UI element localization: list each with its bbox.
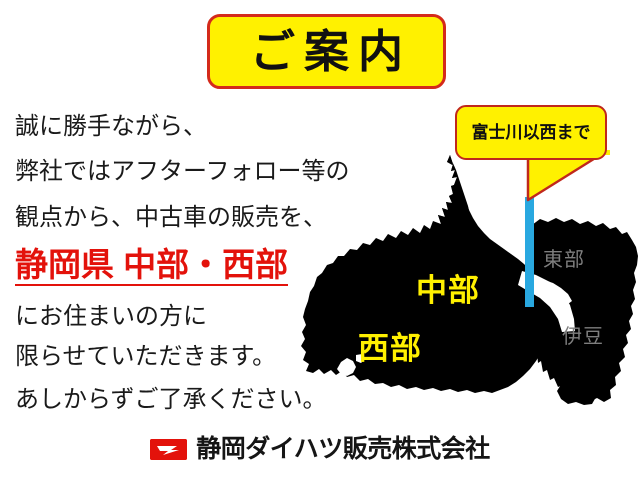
fuji-river-boundary-line bbox=[525, 197, 534, 307]
service-area-highlight: 静岡県 中部・西部 bbox=[15, 248, 288, 286]
map-label-seibu: 西部 bbox=[358, 333, 422, 364]
map-label-chubu: 中部 bbox=[416, 275, 480, 306]
title-banner: ご案内 bbox=[207, 14, 446, 89]
notice-poster: ご案内 誠に勝手ながら、 弊社ではアフターフォロー等の 観点から、中古車の販売を… bbox=[0, 0, 640, 480]
notice-line-6: あしからずご了承ください。 bbox=[15, 388, 327, 412]
notice-line-4: にお住まいの方に bbox=[15, 305, 207, 329]
daihatsu-logo-icon bbox=[150, 439, 187, 460]
notice-line-5: 限らせていただきます。 bbox=[15, 345, 276, 369]
notice-line-3: 観点から、中古車の販売を、 bbox=[15, 206, 327, 230]
map-label-tobu: 東部 bbox=[543, 250, 585, 270]
notice-line-1: 誠に勝手ながら、 bbox=[15, 115, 207, 139]
footer: 静岡ダイハツ販売株式会社 bbox=[0, 437, 640, 462]
callout-bubble: 富士川以西まで bbox=[455, 105, 607, 160]
page-title: ご案内 bbox=[241, 29, 412, 74]
callout-text: 富士川以西まで bbox=[472, 124, 591, 141]
company-name: 静岡ダイハツ販売株式会社 bbox=[196, 437, 490, 462]
map-label-izu: 伊豆 bbox=[562, 327, 604, 347]
